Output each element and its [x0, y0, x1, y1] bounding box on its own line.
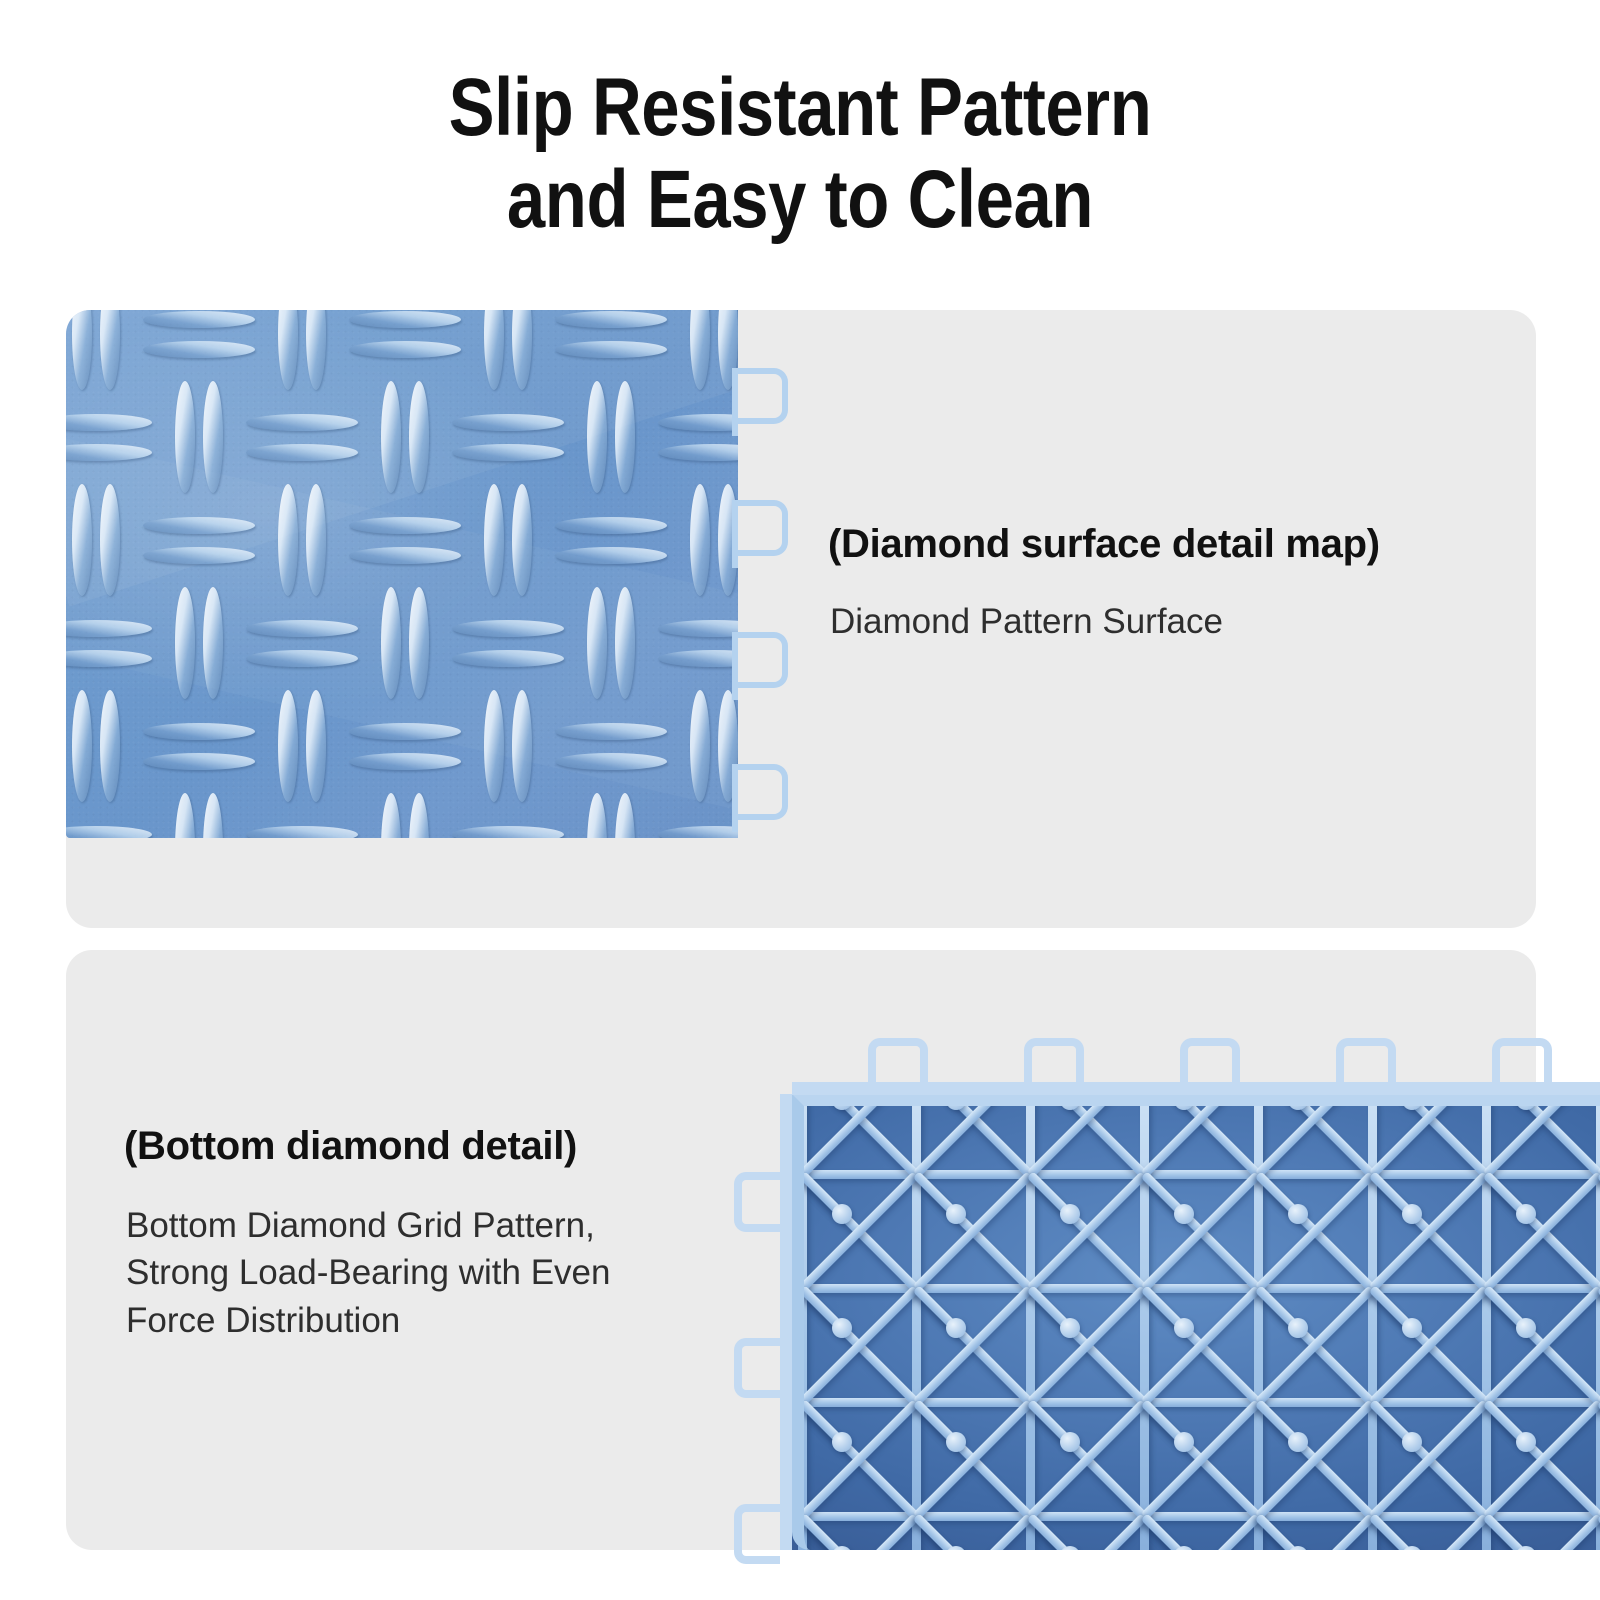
grid-rib-diagonal [1255, 1399, 1375, 1519]
stud-horizontal [452, 620, 564, 637]
grid-rib-diagonal [913, 1171, 1033, 1291]
grid-rib-vertical [1596, 1094, 1600, 1550]
grid-rib-diagonal [913, 1399, 1033, 1519]
grid-node-stud [1402, 1318, 1422, 1338]
grid-rib-diagonal [1483, 1094, 1600, 1178]
grid-node-stud [1402, 1094, 1422, 1110]
grid-node-stud [1516, 1204, 1536, 1224]
grid-rib-stub [1483, 1285, 1530, 1332]
grid-rib-diagonal [913, 1285, 1033, 1405]
grid-rib-stub [1141, 1399, 1188, 1446]
grid-node-stud [832, 1204, 852, 1224]
grid-rib-vertical [1368, 1094, 1377, 1550]
grid-rib-diagonal [799, 1285, 919, 1405]
grid-rib-diagonal [1027, 1285, 1147, 1405]
interlock-tab [738, 500, 788, 556]
stud-vertical [484, 484, 504, 596]
grid-rib-diagonal [1369, 1399, 1489, 1519]
grid-node-stud [832, 1094, 852, 1110]
grid-rib-diagonal [799, 1285, 919, 1405]
interlock-tab [734, 1504, 780, 1564]
grid-rib-diagonal [1483, 1399, 1600, 1519]
stud-vertical [587, 381, 607, 493]
grid-rib-stub [1027, 1399, 1074, 1446]
grid-node-stud [1060, 1318, 1080, 1338]
stud-horizontal [452, 444, 564, 461]
grid-rib-diagonal [1255, 1094, 1375, 1178]
grid-rib-stub [1141, 1285, 1188, 1332]
stud-horizontal [349, 753, 461, 770]
grid-rib-diagonal [1027, 1171, 1147, 1291]
stud-vertical [690, 310, 710, 390]
grid-rib-diagonal [1141, 1399, 1261, 1519]
grid-node-stud [1288, 1432, 1308, 1452]
interlock-tab [1492, 1038, 1552, 1084]
grid-rib-diagonal [1369, 1285, 1489, 1405]
grid-rib-diagonal [1255, 1285, 1375, 1405]
grid-node-stud [1516, 1546, 1536, 1550]
grid-rib-diagonal [1027, 1171, 1147, 1291]
grid-rib-diagonal [1483, 1094, 1600, 1178]
tile-top-surface [66, 310, 738, 838]
grid-node-stud [1060, 1546, 1080, 1550]
grid-rib-stub [1027, 1094, 1074, 1104]
grid-rib-diagonal [1141, 1094, 1261, 1178]
grid-rib-stub [913, 1094, 960, 1104]
grid-rib-stub [913, 1171, 960, 1218]
grid-node-stud [1174, 1094, 1194, 1110]
grid-node-stud [1288, 1546, 1308, 1550]
grid-rib-stub [1027, 1513, 1074, 1550]
stud-vertical [381, 381, 401, 493]
grid-node-stud [946, 1318, 966, 1338]
grid-node-stud [1060, 1094, 1080, 1110]
stud-horizontal [555, 723, 667, 740]
stud-horizontal [452, 414, 564, 431]
grid-node-stud [946, 1546, 966, 1550]
stud-horizontal [66, 414, 152, 431]
grid-rib-diagonal [913, 1399, 1033, 1519]
stud-vertical [484, 690, 504, 802]
grid-rib-diagonal [1141, 1171, 1261, 1291]
stud-horizontal [66, 620, 152, 637]
grid-rib-diagonal [799, 1171, 919, 1291]
grid-node-stud [832, 1318, 852, 1338]
grid-rib-diagonal [799, 1094, 919, 1178]
stud-vertical [409, 793, 429, 839]
grid-rib-diagonal [1141, 1285, 1261, 1405]
grid-rib-stub [913, 1513, 960, 1550]
grid-rib-vertical [1140, 1094, 1149, 1550]
grid-node-stud [1060, 1204, 1080, 1224]
tile-underside-body [792, 1094, 1600, 1550]
grid-node-stud [1288, 1204, 1308, 1224]
grid-rib-vertical [1482, 1094, 1491, 1550]
stud-horizontal [349, 547, 461, 564]
grid-rib-diagonal [1141, 1399, 1261, 1519]
stud-horizontal [452, 826, 564, 839]
stud-vertical [278, 484, 298, 596]
grid-rib-vertical [1254, 1094, 1263, 1550]
stud-horizontal [66, 444, 152, 461]
grid-rib-diagonal [799, 1399, 919, 1519]
surface-texture-grain [66, 310, 738, 838]
grid-rib-diagonal [799, 1513, 919, 1550]
grid-node-stud [1288, 1094, 1308, 1110]
grid-rib-stub [799, 1285, 846, 1332]
stud-horizontal [143, 517, 255, 534]
grid-rib-diagonal [1141, 1285, 1261, 1405]
grid-rib-stub [913, 1399, 960, 1446]
stud-horizontal [143, 547, 255, 564]
grid-rib-diagonal [1255, 1094, 1375, 1178]
grid-rib-stub [1255, 1513, 1302, 1550]
grid-node-stud [946, 1094, 966, 1110]
stud-horizontal [452, 650, 564, 667]
grid-rib-stub [799, 1171, 846, 1218]
grid-rib-vertical [1026, 1094, 1035, 1550]
grid-rib-diagonal [1027, 1513, 1147, 1550]
grid-node-stud [946, 1432, 966, 1452]
interlock-tab [738, 764, 788, 820]
stud-horizontal [143, 311, 255, 328]
bottom-diamond-caption-title: (Bottom diamond detail) [124, 1122, 577, 1170]
grid-rib-diagonal [1483, 1171, 1600, 1291]
grid-node-stud [946, 1204, 966, 1224]
stud-vertical [72, 690, 92, 802]
grid-rib-diagonal [1027, 1399, 1147, 1519]
grid-rib-diagonal [1369, 1094, 1489, 1178]
stud-vertical [100, 484, 120, 596]
grid-rib-stub [1255, 1171, 1302, 1218]
grid-rib-diagonal [1255, 1285, 1375, 1405]
grid-rib-diagonal [1369, 1285, 1489, 1405]
grid-rib-stub [1483, 1399, 1530, 1446]
grid-rib-stub [1483, 1094, 1530, 1104]
stud-horizontal [555, 753, 667, 770]
grid-rib-stub [1369, 1285, 1416, 1332]
stud-horizontal [658, 444, 739, 461]
grid-rib-diagonal [1369, 1171, 1489, 1291]
stud-vertical [381, 793, 401, 839]
stud-horizontal [143, 341, 255, 358]
grid-rib-diagonal [1369, 1513, 1489, 1550]
interlock-tab [1336, 1038, 1396, 1084]
stud-horizontal [555, 547, 667, 564]
grid-rib-horizontal [792, 1512, 1600, 1521]
grid-rib-stub [1255, 1399, 1302, 1446]
grid-rib-diagonal [913, 1513, 1033, 1550]
grid-rib-stub [1141, 1094, 1188, 1104]
diamond-surface-caption-title: (Diamond surface detail map) [828, 520, 1380, 568]
grid-node-stud [1402, 1432, 1422, 1452]
stud-vertical [587, 587, 607, 699]
grid-rib-stub [1369, 1094, 1416, 1104]
stud-vertical [690, 690, 710, 802]
grid-rib-diagonal [1027, 1513, 1147, 1550]
grid-rib-stub [1141, 1513, 1188, 1550]
grid-rib-stub [1141, 1171, 1188, 1218]
grid-rib-diagonal [799, 1513, 919, 1550]
stud-horizontal [555, 311, 667, 328]
grid-rib-diagonal [1027, 1094, 1147, 1178]
interlock-tab [734, 1172, 780, 1232]
grid-rib-diagonal [799, 1094, 919, 1178]
grid-rib-stub [1027, 1171, 1074, 1218]
grid-rib-diagonal [913, 1094, 1033, 1178]
grid-rib-diagonal [1483, 1171, 1600, 1291]
stud-vertical [203, 381, 223, 493]
stud-horizontal [555, 517, 667, 534]
stud-vertical [615, 381, 635, 493]
grid-rib-stub [1483, 1513, 1530, 1550]
stud-horizontal [555, 341, 667, 358]
stud-vertical [306, 690, 326, 802]
grid-node-stud [1174, 1318, 1194, 1338]
grid-rib-diagonal [913, 1094, 1033, 1178]
grid-rib-vertical [798, 1094, 807, 1550]
stud-horizontal [349, 723, 461, 740]
grid-rib-stub [1027, 1285, 1074, 1332]
interlock-tab [734, 1338, 780, 1398]
grid-node-stud [1516, 1094, 1536, 1110]
stud-vertical [381, 587, 401, 699]
interlock-tab [1024, 1038, 1084, 1084]
grid-rib-diagonal [1255, 1171, 1375, 1291]
grid-rib-stub [1255, 1094, 1302, 1104]
stud-vertical [278, 310, 298, 390]
stud-vertical [306, 484, 326, 596]
grid-node-stud [1516, 1432, 1536, 1452]
stud-vertical [409, 587, 429, 699]
stud-vertical [175, 381, 195, 493]
stud-vertical [690, 484, 710, 596]
diamond-surface-caption-body: Diamond Pattern Surface [830, 598, 1223, 645]
stud-vertical [72, 484, 92, 596]
stud-horizontal [246, 650, 358, 667]
interlock-tab [868, 1038, 928, 1084]
surface-facet-highlight [66, 310, 738, 606]
grid-rib-diagonal [1483, 1513, 1600, 1550]
stud-horizontal [66, 826, 152, 839]
grid-rib-horizontal [792, 1398, 1600, 1407]
grid-rib-diagonal [1483, 1399, 1600, 1519]
page-title-line-2: and Easy to Clean [128, 154, 1472, 246]
grid-node-stud [832, 1546, 852, 1550]
stud-vertical [278, 690, 298, 802]
interlock-tab [1180, 1038, 1240, 1084]
grid-rib-diagonal [1027, 1285, 1147, 1405]
grid-rib-diagonal [1483, 1285, 1600, 1405]
grid-node-stud [1174, 1432, 1194, 1452]
bottom-diamond-image [766, 1028, 1600, 1550]
grid-node-stud [832, 1432, 852, 1452]
grid-rib-diagonal [913, 1513, 1033, 1550]
surface-facet-highlight [66, 432, 738, 838]
stud-vertical [512, 484, 532, 596]
stud-horizontal [349, 311, 461, 328]
grid-rib-diagonal [1369, 1171, 1489, 1291]
stud-vertical [484, 310, 504, 390]
grid-rib-stub [799, 1399, 846, 1446]
stud-horizontal [349, 341, 461, 358]
grid-rib-stub [1483, 1171, 1530, 1218]
stud-vertical [100, 690, 120, 802]
grid-rib-diagonal [1255, 1513, 1375, 1550]
stud-vertical [72, 310, 92, 390]
page-title-line-1: Slip Resistant Pattern [128, 62, 1472, 154]
grid-rib-diagonal [1141, 1171, 1261, 1291]
grid-rib-diagonal [1483, 1513, 1600, 1550]
stud-horizontal [658, 650, 739, 667]
stud-horizontal [246, 620, 358, 637]
stud-vertical [306, 310, 326, 390]
grid-node-stud [1402, 1546, 1422, 1550]
stud-vertical [512, 690, 532, 802]
grid-rib-stub [799, 1513, 846, 1550]
grid-rib-diagonal [1369, 1399, 1489, 1519]
stud-vertical [100, 310, 120, 390]
stud-horizontal [658, 826, 739, 839]
stud-horizontal [658, 620, 739, 637]
stud-vertical [203, 587, 223, 699]
interlock-tab [738, 632, 788, 688]
stud-horizontal [246, 414, 358, 431]
stud-vertical [203, 793, 223, 839]
grid-rib-diagonal [1027, 1094, 1147, 1178]
grid-rib-vertical [912, 1094, 921, 1550]
grid-rib-diagonal [1141, 1513, 1261, 1550]
stud-horizontal [246, 444, 358, 461]
stud-horizontal [349, 517, 461, 534]
stud-vertical [615, 793, 635, 839]
stud-vertical [587, 793, 607, 839]
grid-rib-stub [1255, 1285, 1302, 1332]
grid-rib-diagonal [1141, 1513, 1261, 1550]
grid-node-stud [1402, 1204, 1422, 1224]
stud-horizontal [66, 650, 152, 667]
diamond-surface-image [66, 310, 806, 838]
grid-node-stud [1288, 1318, 1308, 1338]
stud-horizontal [143, 723, 255, 740]
grid-rib-diagonal [1483, 1285, 1600, 1405]
grid-rib-diagonal [1369, 1094, 1489, 1178]
grid-rib-diagonal [1255, 1513, 1375, 1550]
grid-rib-stub [1369, 1171, 1416, 1218]
grid-rib-stub [1369, 1399, 1416, 1446]
grid-node-stud [1174, 1204, 1194, 1224]
stud-horizontal [143, 753, 255, 770]
stud-vertical [512, 310, 532, 390]
grid-rib-diagonal [913, 1285, 1033, 1405]
grid-rib-diagonal [1141, 1094, 1261, 1178]
grid-rib-stub [913, 1285, 960, 1332]
stud-horizontal [246, 826, 358, 839]
grid-node-stud [1060, 1432, 1080, 1452]
grid-node-stud [1174, 1546, 1194, 1550]
grid-rib-diagonal [799, 1171, 919, 1291]
grid-rib-diagonal [913, 1171, 1033, 1291]
bottom-diamond-caption-body: Bottom Diamond Grid Pattern, Strong Load… [126, 1202, 726, 1344]
grid-rib-diagonal [1255, 1399, 1375, 1519]
interlock-tab [738, 368, 788, 424]
grid-rib-horizontal [792, 1284, 1600, 1293]
stud-vertical [409, 381, 429, 493]
stud-horizontal [658, 414, 739, 431]
grid-rib-diagonal [1027, 1399, 1147, 1519]
grid-rib-diagonal [1255, 1171, 1375, 1291]
grid-rib-stub [799, 1094, 846, 1104]
stud-vertical [175, 793, 195, 839]
page-title: Slip Resistant Pattern and Easy to Clean [128, 62, 1472, 246]
grid-rib-diagonal [799, 1399, 919, 1519]
stud-vertical [175, 587, 195, 699]
grid-rib-stub [1369, 1513, 1416, 1550]
grid-rib-horizontal [792, 1170, 1600, 1179]
grid-node-stud [1516, 1318, 1536, 1338]
stud-vertical [615, 587, 635, 699]
grid-rib-diagonal [1369, 1513, 1489, 1550]
